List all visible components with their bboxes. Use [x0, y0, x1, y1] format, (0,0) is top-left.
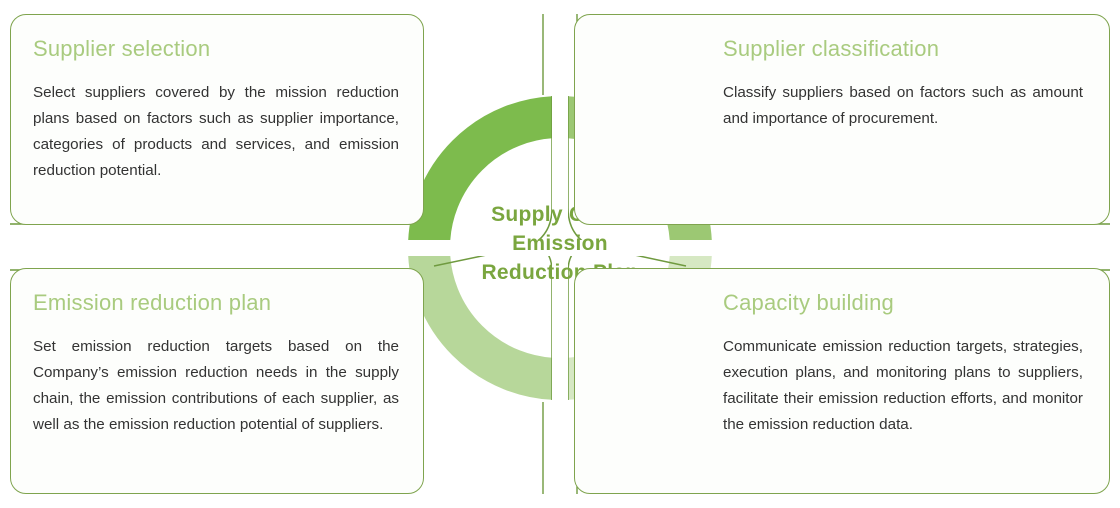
- card-supplier-classification[interactable]: Supplier classification Classify supplie…: [574, 14, 1110, 225]
- card-title-capacity-building: Capacity building: [723, 291, 1083, 315]
- card-title-supplier-classification: Supplier classification: [723, 37, 1083, 61]
- card-body-supplier-classification: Classify suppliers based on factors such…: [723, 80, 1083, 132]
- card-capacity-building[interactable]: Capacity building Communicate emission r…: [574, 268, 1110, 494]
- diagram-canvas: Supply Chain Emission Reduction Plan Sup…: [0, 0, 1120, 508]
- card-emission-reduction-plan[interactable]: Emission reduction plan Set emission red…: [10, 268, 424, 494]
- card-title-emission-reduction-plan: Emission reduction plan: [33, 291, 399, 315]
- card-body-supplier-selection: Select suppliers covered by the mission …: [33, 80, 399, 184]
- card-body-capacity-building: Communicate emission reduction targets, …: [723, 334, 1083, 438]
- card-body-emission-reduction-plan: Set emission reduction targets based on …: [33, 334, 399, 438]
- center-line-2: Emission: [448, 229, 672, 258]
- card-title-supplier-selection: Supplier selection: [33, 37, 399, 61]
- card-supplier-selection[interactable]: Supplier selection Select suppliers cove…: [10, 14, 424, 225]
